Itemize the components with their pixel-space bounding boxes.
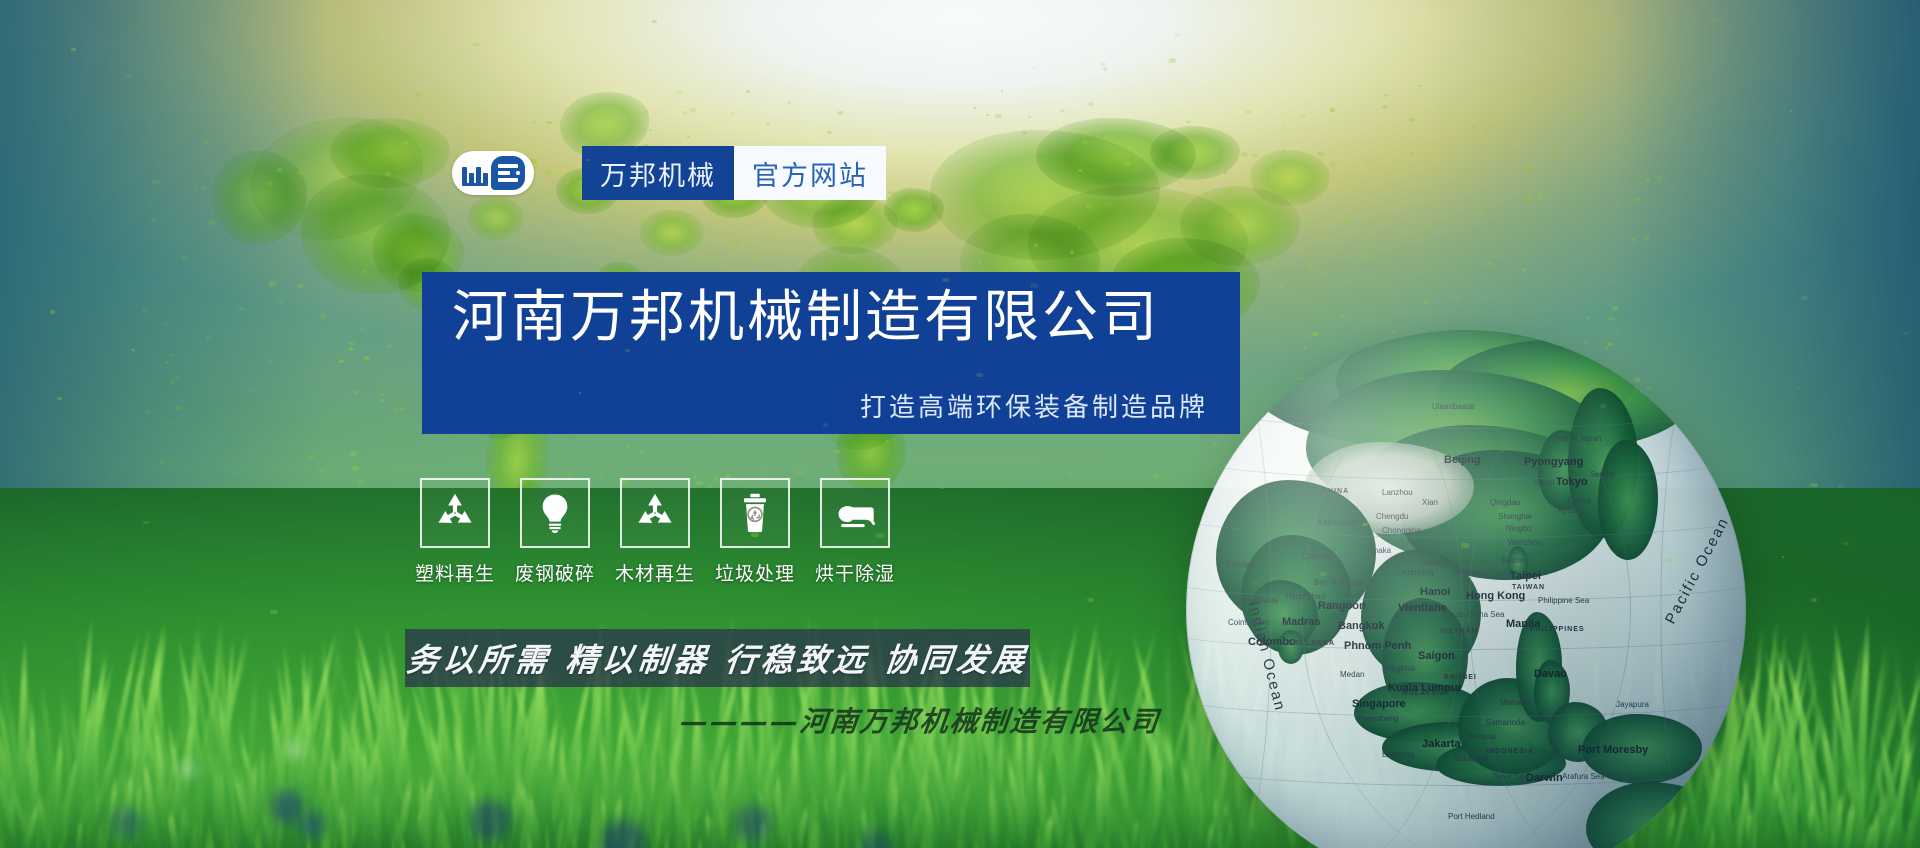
globe-label: Osaka (1568, 496, 1591, 505)
floating-leaf-fleck (1174, 33, 1181, 37)
floating-leaf-fleck (942, 278, 948, 282)
floating-leaf-fleck (1486, 126, 1492, 130)
floating-leaf-fleck (675, 90, 682, 94)
floating-leaf-fleck (1801, 296, 1807, 300)
floating-leaf-fleck (1034, 245, 1037, 247)
floating-leaf-fleck (50, 310, 55, 313)
service-label: 废钢破碎 (515, 559, 595, 586)
floating-leaf-fleck (876, 533, 884, 538)
globe-label: Wenzhou (1508, 538, 1542, 547)
floating-leaf-fleck (1318, 460, 1321, 462)
floating-leaf-fleck (71, 48, 75, 51)
hero-headline-box: 河南万邦机械制造有限公司 打造高端环保装备制造品牌 (422, 272, 1240, 434)
floating-leaf-fleck (976, 373, 982, 377)
logo-w-glyph-icon (462, 160, 488, 186)
globe-label: Calcutta (1302, 552, 1331, 561)
floating-leaf-fleck (1111, 123, 1116, 126)
globe-label: Vientiane (1398, 602, 1447, 614)
globe-label: Pyongyang (1524, 456, 1583, 468)
globe-label: Port Hedland (1448, 812, 1495, 821)
globe-label: Bandung (1382, 750, 1414, 759)
grass-bokeh (300, 812, 326, 838)
globe-label: Bay of Bengal (1314, 578, 1364, 587)
globe-label: Philippine Sea (1538, 596, 1589, 605)
grass-bokeh (112, 808, 142, 838)
globe-label: Samarinda (1486, 718, 1525, 727)
globe-label: Arafura Sea (1562, 772, 1605, 781)
globe-label: Chongqing (1382, 526, 1421, 535)
service-item-1[interactable]: 塑料再生 (420, 478, 490, 586)
service-label: 垃圾处理 (715, 559, 795, 586)
floating-leaf-fleck (1219, 130, 1222, 132)
floating-leaf-fleck (269, 281, 277, 286)
service-label: 木材再生 (615, 559, 695, 586)
globe-label: Tokyo (1556, 476, 1588, 488)
globe-label: Bombay (1226, 560, 1255, 569)
floating-leaf-fleck (1087, 598, 1094, 602)
globe-label: South China Sea (1444, 610, 1505, 619)
globe-label: Makasar (1466, 732, 1497, 741)
globe-label: Songkhla (1382, 664, 1415, 673)
globe-label: Taipei (1510, 570, 1541, 582)
globe-label: Timor Sea (1492, 772, 1529, 781)
globe-label: Port Moresby (1578, 744, 1648, 756)
brand-logo-row[interactable]: 万邦机械 官方网站 (452, 146, 886, 200)
recycle-icon[interactable] (620, 478, 690, 548)
floating-leaf-fleck (1711, 18, 1717, 22)
floating-leaf-fleck (473, 43, 479, 47)
globe-label: Kathmandu (1318, 518, 1359, 527)
floating-leaf-fleck (1169, 58, 1176, 62)
page-subtitle: 打造高端环保装备制造品牌 (452, 387, 1210, 424)
globe-label: CHINA (1322, 488, 1349, 495)
floating-leaf-fleck (751, 533, 759, 538)
floating-leaf-fleck (1574, 67, 1580, 71)
globe-label: BRUNEI (1444, 674, 1477, 681)
globe-label: Coimbatore (1228, 618, 1269, 627)
floating-leaf-fleck (126, 75, 132, 79)
floating-leaf-fleck (421, 565, 429, 570)
floating-leaf-fleck (1782, 556, 1784, 557)
slogan-text: 务以所需 精以制器 行稳致远 协同发展 (404, 635, 1030, 681)
floating-leaf-fleck (888, 191, 893, 194)
service-label: 塑料再生 (415, 559, 495, 586)
globe-label: Jakarta (1422, 738, 1461, 750)
globe-label: INDONESIA (1486, 748, 1534, 755)
globe-label: Bangalore (1242, 596, 1278, 605)
floating-leaf-fleck (1340, 315, 1344, 318)
floating-leaf-fleck (1320, 572, 1326, 576)
globe-label: Bangkok (1338, 620, 1384, 632)
floating-leaf-fleck (152, 180, 160, 185)
globe-label: Shantou (1454, 568, 1484, 577)
slogan-attribution: ————河南万邦机械制造有限公司 (678, 700, 1242, 740)
globe-label: Shanghai (1498, 512, 1532, 521)
grass-bokeh (270, 790, 304, 824)
globe-label: Guiyang (1420, 558, 1450, 567)
grass-bokeh (735, 805, 771, 841)
floating-leaf-fleck (1790, 110, 1794, 112)
globe-label: Beijing (1444, 454, 1481, 466)
grass-bokeh (286, 742, 302, 758)
globe-label: Hong Kong (1466, 590, 1525, 602)
floating-leaf-fleck (1252, 154, 1257, 157)
globe-label: Ulaanbaatar (1432, 402, 1476, 411)
globe-label: Dhaka (1368, 546, 1391, 555)
grass-bokeh (470, 800, 510, 840)
floating-leaf-fleck (377, 387, 379, 388)
globe-label: Madras (1282, 616, 1321, 628)
floating-leaf-fleck (579, 392, 581, 393)
floating-leaf-fleck (823, 423, 829, 426)
globe-label: Rangoon (1318, 600, 1366, 612)
floating-leaf-fleck (1810, 483, 1817, 487)
banner-stage: Pacific OceanIndian OceanUlaanbaatarBeij… (0, 0, 1920, 848)
globe-label: Hanoi (1420, 586, 1451, 598)
floating-leaf-fleck (270, 610, 278, 615)
globe-label: Sendai (1590, 470, 1615, 479)
globe-label: Medan (1340, 670, 1364, 679)
globe-label: Ningbo (1506, 524, 1531, 533)
lightbulb-icon[interactable] (520, 478, 590, 548)
page-title: 河南万邦机械制造有限公司 (452, 288, 1210, 346)
logo-speech-bubble-icon (491, 156, 525, 190)
globe-label: Phnom Penh (1344, 640, 1411, 652)
globe-label: Fuzhou (1502, 556, 1529, 565)
globe-label: Kyushu (1558, 506, 1585, 515)
floating-leaf-fleck (1653, 616, 1657, 619)
globe-label: Seoul (1534, 478, 1554, 487)
floating-leaf-fleck (143, 521, 149, 525)
grass-bokeh (178, 760, 196, 778)
globe-label: Xian (1422, 498, 1438, 507)
floating-leaf-fleck (1461, 543, 1468, 547)
globe-label: MALAYSIA (1402, 690, 1446, 697)
globe-label: VIETNAM (1440, 628, 1479, 635)
globe-label: Chengdu (1376, 512, 1408, 521)
service-item-5[interactable]: 烘干除湿 (820, 478, 890, 586)
globe-label: Kunming (1402, 568, 1434, 577)
floating-leaf-fleck (1005, 474, 1010, 477)
floating-leaf-fleck (652, 20, 657, 23)
globe-label: Surabaya (1454, 754, 1488, 763)
globe-sphere: Pacific OceanIndian OceanUlaanbaatarBeij… (1186, 330, 1746, 848)
wanbang-logo-mark[interactable] (452, 151, 534, 195)
globe-label: Darwin (1526, 772, 1563, 784)
globe-label: SRI LANKA (1288, 640, 1335, 647)
globe-label: Qingdao (1490, 498, 1520, 507)
floating-leaf-fleck (1797, 388, 1799, 389)
recycle-icon[interactable] (420, 478, 490, 548)
globe-label: Palembang (1358, 714, 1398, 723)
brand-tab-official-site[interactable]: 官方网站 (734, 146, 886, 200)
floating-leaf-fleck (1317, 152, 1324, 156)
floating-leaf-fleck (1665, 558, 1672, 562)
slogan-band: 务以所需 精以制器 行稳致远 协同发展 (405, 629, 1030, 687)
floating-leaf-fleck (1600, 404, 1606, 408)
floating-leaf-fleck (751, 256, 759, 261)
floating-leaf-fleck (1811, 598, 1818, 602)
globe-label: PHILIPPINES (1530, 626, 1585, 633)
globe-label: Lanzhou (1382, 488, 1413, 497)
brand-name-tabs: 万邦机械 官方网站 (582, 146, 886, 200)
floating-leaf-fleck (1103, 67, 1109, 70)
service-item-4[interactable]: 垃圾处理 (720, 478, 790, 586)
service-item-3[interactable]: 木材再生 (620, 478, 690, 586)
globe-label: Jayapura (1616, 700, 1649, 709)
floating-leaf-fleck (1903, 332, 1909, 335)
globe-label: Davao (1534, 668, 1567, 680)
floating-leaf-fleck (1030, 283, 1038, 288)
service-icon-row: 塑料再生废钢破碎木材再生垃圾处理烘干除湿 (420, 478, 890, 586)
floating-leaf-fleck (1714, 525, 1719, 528)
trash-bin-icon[interactable] (720, 478, 790, 548)
floating-leaf-fleck (1838, 484, 1844, 488)
globe-label: Sea of Japan (1554, 434, 1601, 443)
brand-tab-company[interactable]: 万邦机械 (582, 146, 734, 200)
globe-label: Singapore (1352, 698, 1406, 710)
floating-leaf-fleck (635, 146, 637, 147)
globe-label: Saigon (1418, 650, 1455, 662)
globe: Pacific OceanIndian OceanUlaanbaatarBeij… (1186, 330, 1746, 848)
globe-label: Manado (1500, 698, 1529, 707)
service-item-2[interactable]: 废钢破碎 (520, 478, 590, 586)
service-label: 烘干除湿 (815, 559, 895, 586)
floating-leaf-fleck (1634, 377, 1641, 381)
